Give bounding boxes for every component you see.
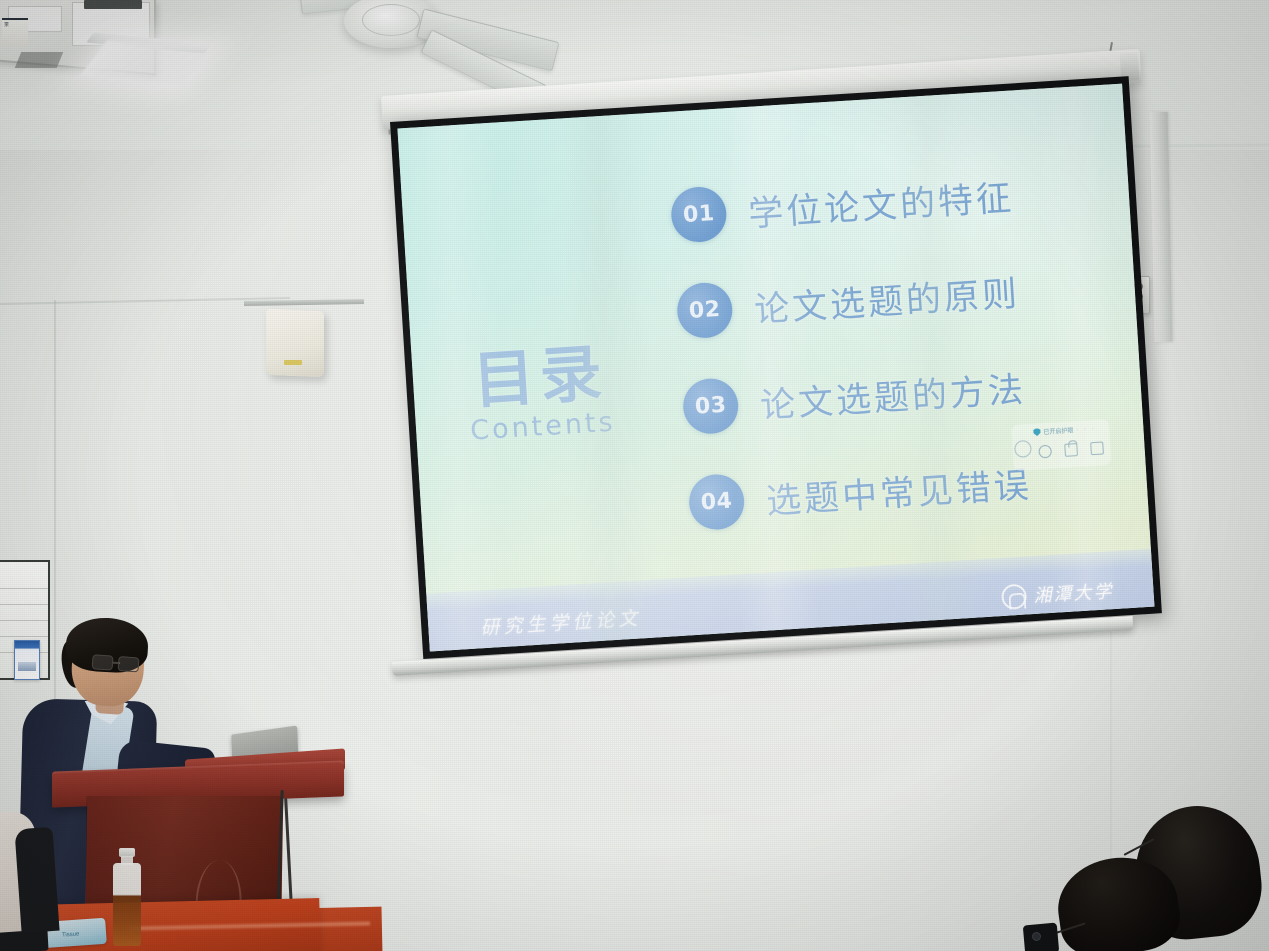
- ceiling-fan-light: [362, 4, 420, 36]
- projection-screen: 目录 Contents 01 学位论文的特征 02 论文选题的原则 03: [390, 76, 1162, 659]
- smartphone-camera-icon: [1032, 932, 1041, 941]
- wall-panel-seam: [54, 300, 56, 720]
- wall-notice-image: [18, 662, 36, 671]
- ac-vent: [84, 0, 142, 9]
- foreground-person-left-sleeve: [14, 827, 59, 933]
- housing-brand-label: [432, 104, 435, 111]
- presentation-slide: 目录 Contents 01 学位论文的特征 02 论文选题的原则 03: [397, 84, 1154, 652]
- projection-glare: [397, 84, 1154, 652]
- wall-speaker: [266, 309, 324, 378]
- drink-bottle: [112, 848, 142, 946]
- glasses-lens: [118, 656, 140, 672]
- glasses-lens: [92, 654, 114, 670]
- whiteboard-line: [0, 636, 48, 637]
- bottle-body: [113, 863, 141, 946]
- lecture-room-photo: 目录 Contents 01 学位论文的特征 02 论文选题的原则 03: [0, 0, 1269, 951]
- projection-surface: 目录 Contents 01 学位论文的特征 02 论文选题的原则 03: [397, 84, 1154, 652]
- whiteboard-line: [0, 604, 48, 605]
- wall-notice-sign: [14, 640, 40, 680]
- wall-speaker-led: [284, 360, 302, 365]
- tissue-pack-label: Tissue: [62, 931, 80, 938]
- whiteboard-line: [0, 620, 48, 621]
- ceiling-recess: [15, 52, 63, 68]
- audience-smartphone: [1023, 923, 1059, 951]
- whiteboard-line: [0, 588, 48, 589]
- bottle-label-text: 茶: [4, 22, 26, 28]
